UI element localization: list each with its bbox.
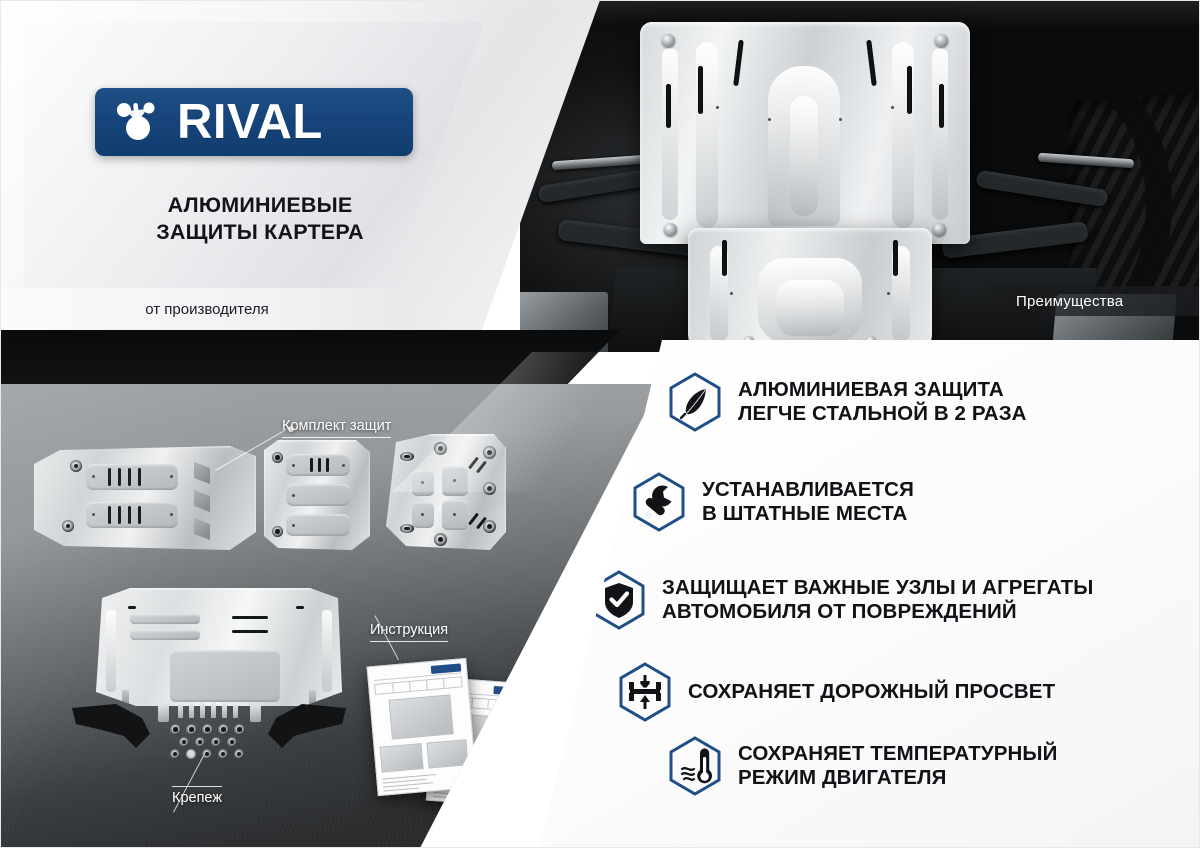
installed-skid-plate-lower: [688, 228, 932, 352]
instruction-sheet-front: [367, 658, 478, 796]
callout-instruction-label: Инструкция: [370, 622, 448, 638]
brand-panel: RIVAL АЛЮМИНИЕВЫЕ ЗАЩИТЫ КАРТЕРА от прои…: [0, 0, 600, 352]
skid-plate-right: [386, 434, 506, 550]
callout-kit-label: Комплект защит: [282, 418, 391, 434]
poster-root: Преимущества RIVAL АЛ: [0, 0, 1200, 848]
advantage-item-2: УСТАНАВЛИВАЕТСЯ В ШТАТНЫЕ МЕСТА: [632, 472, 914, 532]
advantage-text-1: АЛЮМИНИЕВАЯ ЗАЩИТА ЛЕГЧЕ СТАЛЬНОЙ В 2 РА…: [738, 378, 1027, 426]
divider-band: [0, 330, 620, 392]
tie-rod: [552, 155, 648, 171]
skid-plate-wide-bottom: [96, 588, 342, 706]
advantage-item-5: СОХРАНЯЕТ ТЕМПЕРАТУРНЫЙ РЕЖИМ ДВИГАТЕЛЯ: [668, 736, 1057, 796]
molecule-icon: [113, 97, 167, 147]
installed-skid-plate-upper: [640, 22, 970, 244]
rival-logo: RIVAL: [95, 88, 413, 156]
advantage-item-4: СОХРАНЯЕТ ДОРОЖНЫЙ ПРОСВЕТ: [618, 662, 1055, 722]
hardware-bolts: [178, 702, 242, 718]
rival-logo-text: RIVAL: [177, 98, 323, 147]
mounting-bracket-left: [72, 704, 150, 748]
headline-line-2: ЗАЩИТЫ КАРТЕРА: [95, 219, 425, 246]
subtitle-text: от производителя: [145, 301, 268, 318]
hardware-washers: [170, 724, 256, 758]
brand-panel-inner: [24, 22, 484, 330]
hardware-plate-left: [158, 704, 169, 722]
shield-check-icon: [592, 570, 646, 630]
vehicle-underbody-photo: Преимущества: [520, 0, 1200, 352]
advantages-tab: Преимущества: [980, 286, 1200, 316]
thermometer-icon: [668, 736, 722, 796]
hardware-plate-right: [250, 704, 261, 722]
callout-hardware: Крепеж: [172, 786, 222, 806]
subtitle-bar: от производителя: [0, 288, 414, 330]
mounting-bracket-right: [268, 704, 346, 748]
advantage-text-4: СОХРАНЯЕТ ДОРОЖНЫЙ ПРОСВЕТ: [688, 680, 1055, 704]
callout-kit: Комплект защит: [282, 418, 391, 438]
callout-instruction: Инструкция: [370, 622, 448, 642]
advantage-item-1: АЛЮМИНИЕВАЯ ЗАЩИТА ЛЕГЧЕ СТАЛЬНОЙ В 2 РА…: [668, 372, 1027, 432]
feather-icon: [668, 372, 722, 432]
skid-plate-large-left: [34, 446, 256, 550]
wrench-icon: [632, 472, 686, 532]
advantage-item-3: ЗАЩИЩАЕТ ВАЖНЫЕ УЗЛЫ И АГРЕГАТЫ АВТОМОБИ…: [592, 570, 1093, 630]
page-title: АЛЮМИНИЕВЫЕ ЗАЩИТЫ КАРТЕРА: [95, 192, 425, 246]
headline-line-1: АЛЮМИНИЕВЫЕ: [95, 192, 425, 219]
ground-clearance-icon: [618, 662, 672, 722]
advantage-text-5: СОХРАНЯЕТ ТЕМПЕРАТУРНЫЙ РЕЖИМ ДВИГАТЕЛЯ: [738, 742, 1057, 790]
advantage-text-2: УСТАНАВЛИВАЕТСЯ В ШТАТНЫЕ МЕСТА: [702, 478, 914, 526]
skid-plate-middle: [264, 440, 370, 550]
callout-hardware-label: Крепеж: [172, 790, 222, 806]
advantage-text-3: ЗАЩИЩАЕТ ВАЖНЫЕ УЗЛЫ И АГРЕГАТЫ АВТОМОБИ…: [662, 576, 1093, 624]
advantages-tab-label: Преимущества: [1016, 293, 1123, 310]
